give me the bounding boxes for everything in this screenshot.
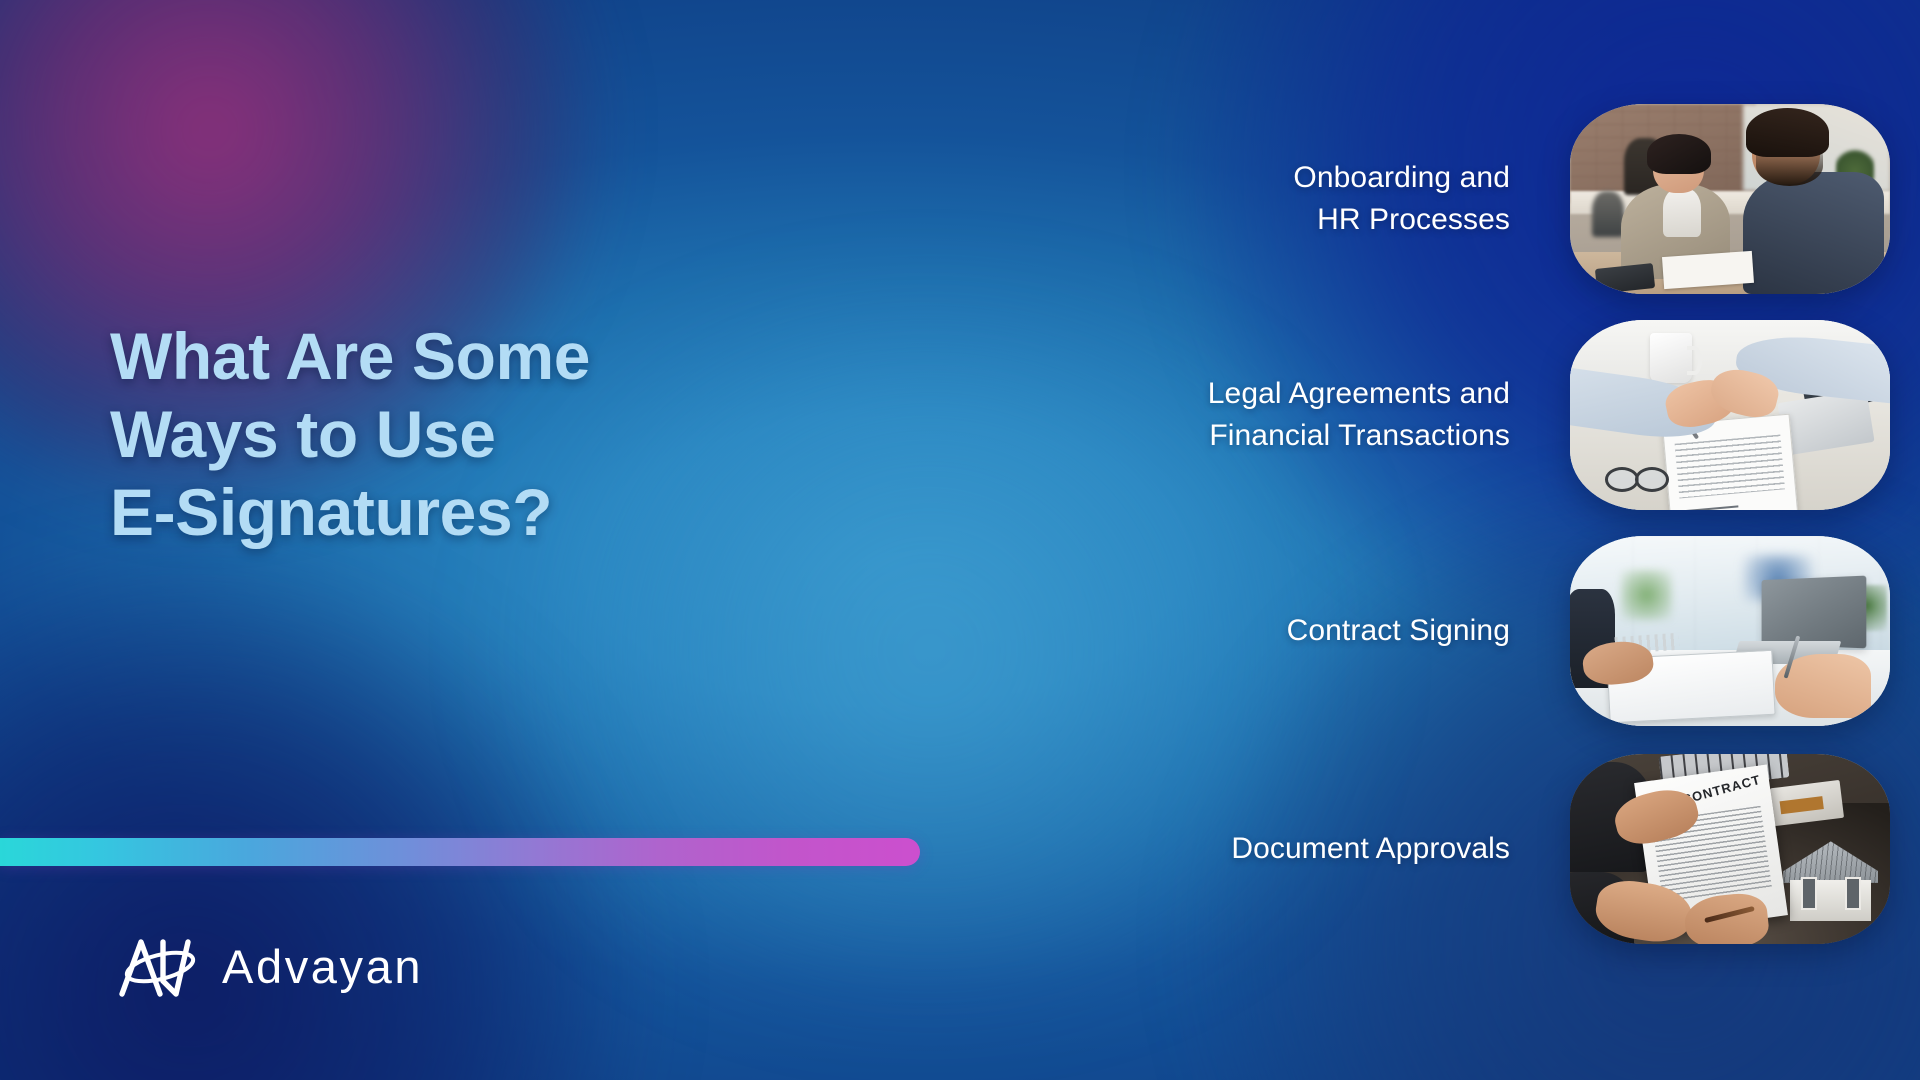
photo-outdoor-green — [1621, 570, 1672, 619]
slide-canvas: What Are Some Ways to Use E-Signatures? … — [0, 0, 1920, 1080]
photo-document-approvals: CONTRACT — [1570, 754, 1890, 944]
photo-man-body — [1743, 172, 1884, 294]
photo-model-house — [1781, 841, 1880, 921]
photo-laptop-screen — [1761, 575, 1866, 648]
photo-contract-text-lines — [1675, 435, 1785, 498]
legal-agreements-photo — [1570, 320, 1890, 510]
use-case-label-onboarding: Onboarding and HR Processes — [1030, 157, 1510, 241]
contract-signing-photo — [1570, 536, 1890, 726]
use-case-label-legal: Legal Agreements and Financial Transacti… — [1030, 373, 1510, 457]
photo-contract-signing — [1570, 536, 1890, 726]
photo-house-window — [1845, 877, 1861, 911]
page-title: What Are Some Ways to Use E-Signatures? — [110, 318, 810, 552]
photo-paper — [1662, 251, 1754, 289]
photo-legal-agreements — [1570, 320, 1890, 510]
use-case-label-document-approvals: Document Approvals — [1030, 828, 1510, 870]
onboarding-hr-photo — [1570, 104, 1890, 294]
use-case-list: Onboarding and HR Processes — [1030, 96, 1890, 996]
headline-line-2: Ways to Use — [110, 396, 810, 474]
photo-background-person-2 — [1592, 191, 1624, 237]
photo-house-roof — [1783, 841, 1878, 882]
photo-eyeglasses — [1605, 461, 1669, 491]
headline-line-3: E-Signatures? — [110, 474, 810, 552]
photo-house-window — [1801, 877, 1817, 911]
photo-tablet — [1594, 263, 1654, 294]
accent-gradient-bar — [0, 838, 920, 866]
photo-man-hair — [1746, 108, 1829, 157]
headline-line-1: What Are Some — [110, 318, 810, 396]
document-approvals-photo: CONTRACT — [1570, 754, 1890, 944]
list-item[interactable]: Contract Signing — [1030, 528, 1890, 734]
list-item[interactable]: Onboarding and HR Processes — [1030, 96, 1890, 302]
photo-signature-line — [1686, 505, 1739, 510]
use-case-label-contract-signing: Contract Signing — [1030, 610, 1510, 652]
photo-woman-shirt — [1663, 188, 1701, 237]
list-item[interactable]: Document Approvals CONTRACT — [1030, 746, 1890, 952]
brand-name: Advayan — [222, 943, 423, 990]
photo-woman-hair — [1647, 134, 1711, 174]
advayan-orbit-a-logo-icon — [116, 934, 208, 998]
photo-onboarding-hr — [1570, 104, 1890, 294]
list-item[interactable]: Legal Agreements and Financial Transacti… — [1030, 312, 1890, 518]
photo-coffee-cup — [1650, 333, 1692, 382]
brand-logo: Advayan — [116, 934, 423, 998]
